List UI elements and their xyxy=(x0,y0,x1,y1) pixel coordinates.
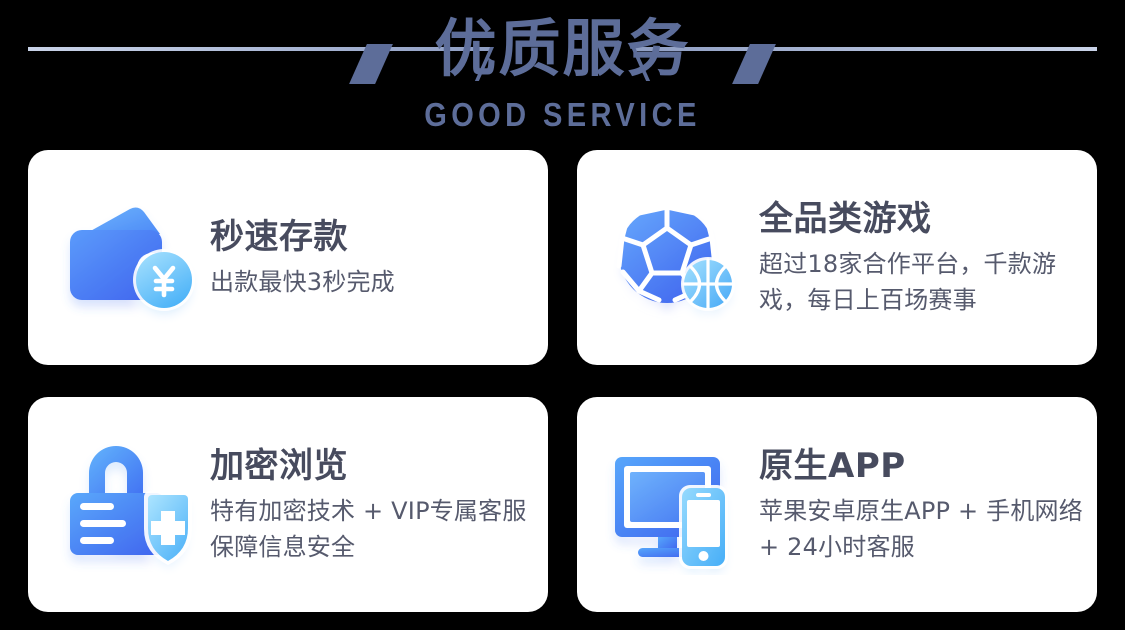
card-text-block: 加密浏览 特有加密技术 + VIP专属客服保障信息安全 xyxy=(206,445,548,565)
card-title: 加密浏览 xyxy=(210,445,534,487)
feature-card-native-app[interactable]: 原生APP 苹果安卓原生APP + 手机网络 + 24小时客服 xyxy=(577,397,1097,612)
card-subtitle: 特有加密技术 + VIP专属客服保障信息安全 xyxy=(210,493,534,565)
monitor-phone-icon xyxy=(605,435,755,575)
card-subtitle: 出款最快3秒完成 xyxy=(210,264,534,300)
page-header: 优质服务 GOOD SERVICE xyxy=(0,0,1125,150)
soccer-basketball-icon xyxy=(605,188,755,328)
card-subtitle: 苹果安卓原生APP + 手机网络 + 24小时客服 xyxy=(759,493,1083,565)
card-subtitle: 超过18家合作平台，千款游戏，每日上百场赛事 xyxy=(759,246,1083,318)
card-text-block: 全品类游戏 超过18家合作平台，千款游戏，每日上百场赛事 xyxy=(755,198,1097,318)
card-title: 秒速存款 xyxy=(210,216,534,258)
card-text-block: 秒速存款 出款最快3秒完成 xyxy=(206,216,548,300)
page-subtitle: GOOD SERVICE xyxy=(68,96,1058,134)
feature-card-encrypted-browsing[interactable]: 加密浏览 特有加密技术 + VIP专属客服保障信息安全 xyxy=(28,397,548,612)
feature-card-instant-deposit[interactable]: 秒速存款 出款最快3秒完成 xyxy=(28,150,548,365)
wallet-yen-icon xyxy=(56,188,206,328)
lock-shield-icon xyxy=(56,435,206,575)
card-text-block: 原生APP 苹果安卓原生APP + 手机网络 + 24小时客服 xyxy=(755,445,1097,565)
feature-card-grid: 秒速存款 出款最快3秒完成 xyxy=(28,150,1097,612)
feature-card-all-category-games[interactable]: 全品类游戏 超过18家合作平台，千款游戏，每日上百场赛事 xyxy=(577,150,1097,365)
card-title: 全品类游戏 xyxy=(759,198,1083,240)
card-title: 原生APP xyxy=(759,445,1083,487)
page-title: 优质服务 xyxy=(0,8,1125,90)
